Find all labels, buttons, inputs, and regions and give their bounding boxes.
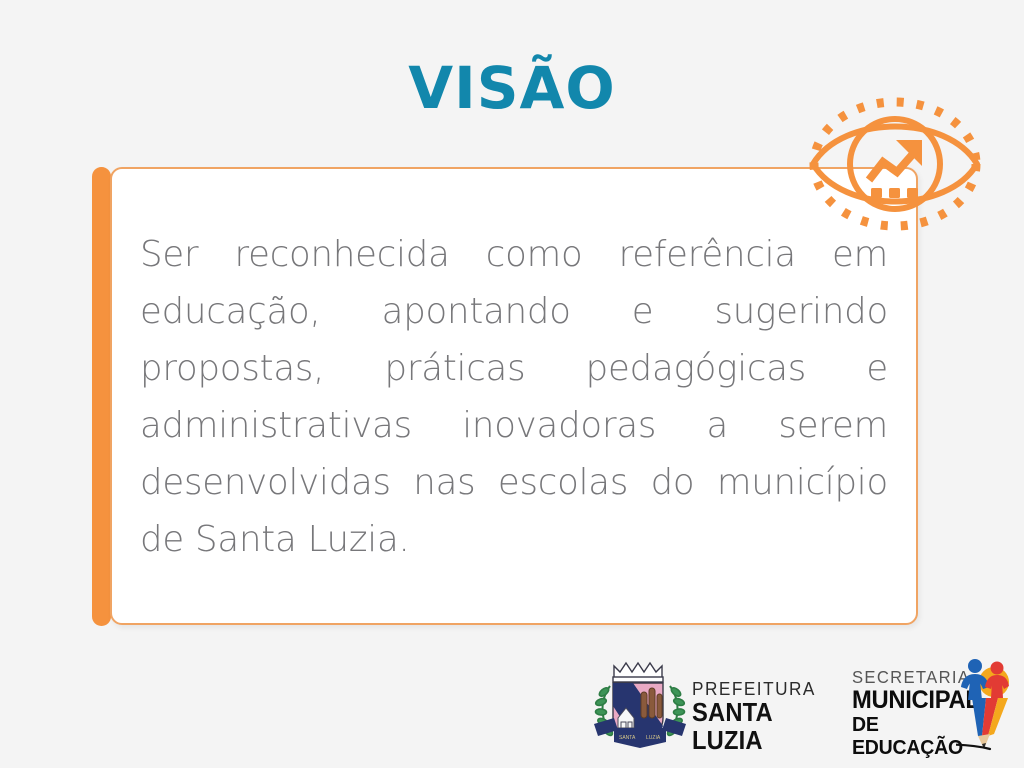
footer-logos: SANTA LUZIA PREFEITURA SANTA LUZIA SECRE… [0,648,1024,760]
eye-growth-chart-icon [795,88,995,240]
prefeitura-wordmark: PREFEITURA SANTA LUZIA [692,678,828,755]
educacao-label-line1: SECRETARIA [852,668,964,687]
slide-canvas: VISÃO Ser reconhecida como referência em… [0,0,1024,768]
educacao-label-line2: MUNICIPAL [852,687,964,713]
prefeitura-santa-luzia-logo: SANTA LUZIA PREFEITURA SANTA LUZIA [588,656,828,752]
vision-statement-text: Ser reconhecida como referência em educa… [140,226,888,568]
prefeitura-label-line1: PREFEITURA [692,678,818,699]
secretaria-municipal-educacao-logo: SECRETARIA MUNICIPAL DE EDUCAÇÃO [852,654,1012,754]
svg-text:SANTA: SANTA [619,735,636,741]
santa-luzia-coat-of-arms-icon: SANTA LUZIA [588,656,692,752]
educacao-wordmark: SECRETARIA MUNICIPAL DE EDUCAÇÃO [852,668,970,759]
pencil-people-icon [956,654,1014,754]
accent-bar [92,167,111,626]
svg-text:LUZIA: LUZIA [646,735,661,741]
educacao-label-line3: DE EDUCAÇÃO [852,713,964,759]
prefeitura-label-line2: SANTA LUZIA [692,699,818,755]
